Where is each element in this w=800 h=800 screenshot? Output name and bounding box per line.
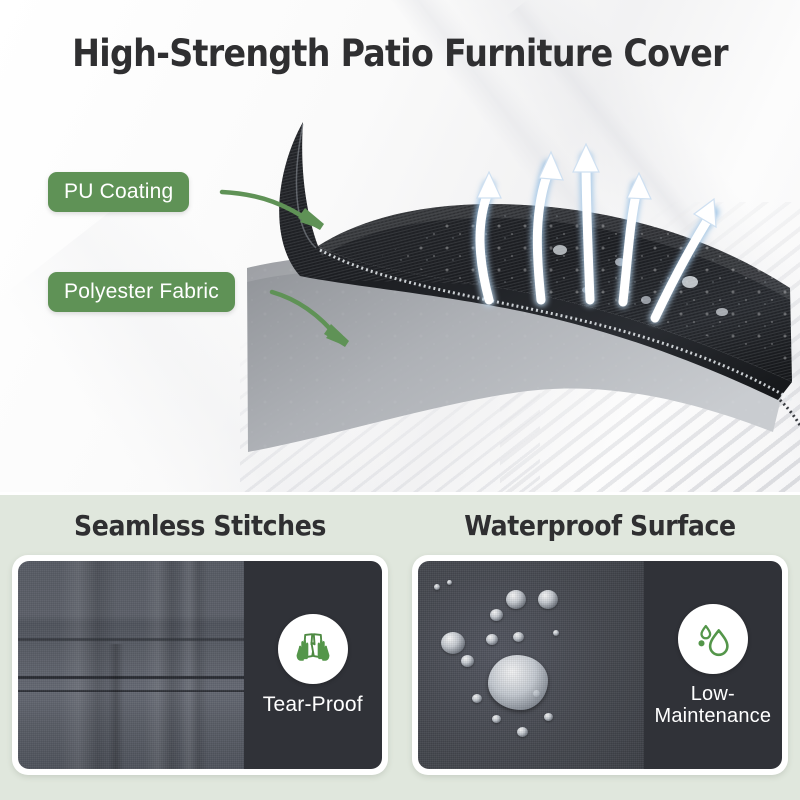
badge-label-line-1: Low-	[691, 683, 735, 705]
stitched-fabric-photo	[18, 561, 244, 769]
callout-arrowheads	[298, 208, 349, 347]
callout-pu-coating: PU Coating	[48, 172, 189, 212]
feature-badge-tear-proof: Tear-Proof	[244, 561, 382, 769]
feature-badge-label-low-maintenance: Low- Maintenance	[654, 683, 771, 727]
background-hatch-pattern	[500, 202, 800, 492]
water-droplet-icon	[678, 604, 748, 674]
callout-pu-coating-label: PU Coating	[64, 180, 173, 204]
feature-card-waterproof-surface: Low- Maintenance	[412, 555, 788, 775]
feature-badge-low-maintenance: Low- Maintenance	[644, 561, 782, 769]
callout-polyester-fabric-label: Polyester Fabric	[64, 280, 219, 304]
callout-polyester-fabric: Polyester Fabric	[48, 272, 235, 312]
hero-section: High-Strength Patio Furniture Cover	[0, 0, 800, 492]
feature-heading-seamless-stitches: Seamless Stitches	[0, 509, 400, 542]
background-diagonal-band	[1, 174, 479, 492]
page-title: High-Strength Patio Furniture Cover	[0, 32, 800, 75]
water-beading-fabric-photo	[418, 561, 644, 769]
badge-label-line-2: Maintenance	[654, 705, 771, 727]
background-hatch-pattern	[240, 312, 540, 492]
infographic-page: High-Strength Patio Furniture Cover	[0, 0, 800, 800]
callout-connector-arrows	[222, 192, 338, 338]
feature-badge-label-tear-proof: Tear-Proof	[263, 693, 363, 716]
feature-card-seamless-stitches: Tear-Proof	[12, 555, 388, 775]
feature-heading-waterproof-surface: Waterproof Surface	[400, 509, 800, 542]
features-section: Seamless Stitches Waterproof Surface	[0, 495, 800, 800]
breathability-arrows-icon	[477, 144, 716, 318]
tear-proof-hands-icon	[278, 614, 348, 684]
